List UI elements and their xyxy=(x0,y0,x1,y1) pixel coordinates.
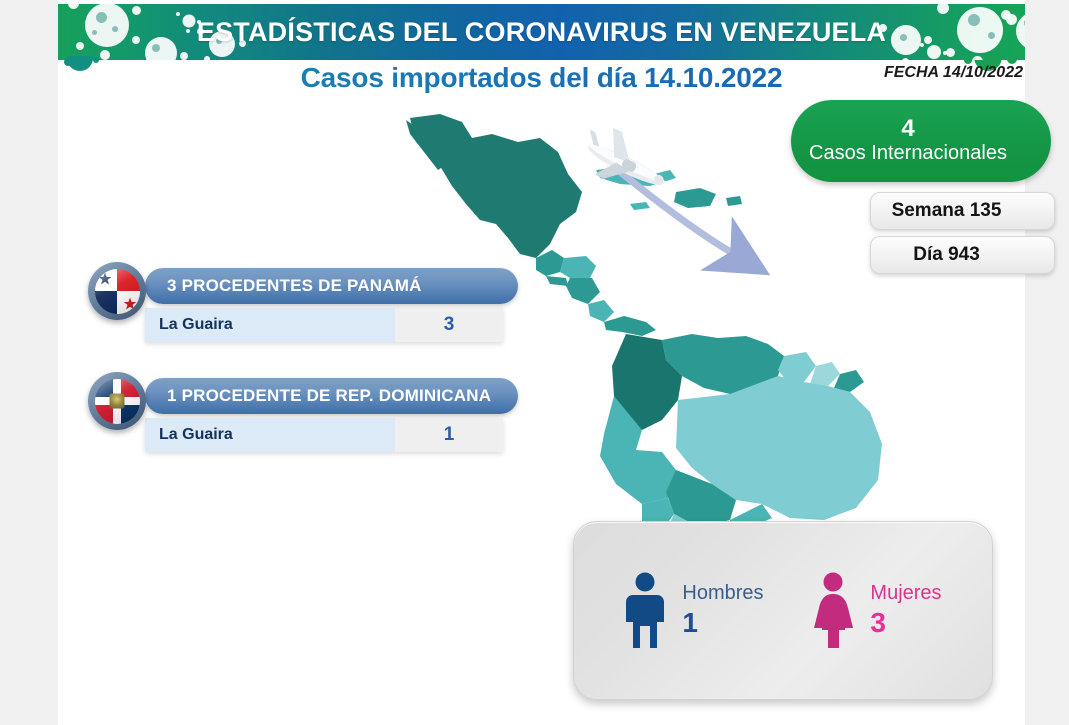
male-figure-icon xyxy=(624,572,666,650)
gender-women: Mujeres 3 xyxy=(812,572,941,650)
map-region-panama xyxy=(604,316,656,336)
gender-women-label: Mujeres xyxy=(870,582,941,605)
state-count: 3 xyxy=(395,308,503,342)
gender-men-label: Hombres xyxy=(682,582,763,605)
international-cases-label: Casos Internacionales xyxy=(809,141,1007,166)
female-figure-icon xyxy=(812,572,854,650)
fecha-label: FECHA 14/10/2022 xyxy=(884,64,1023,82)
gender-panel: Hombres 1 Mujeres 3 xyxy=(573,521,993,700)
table-row: La Guaira 1 xyxy=(145,418,503,452)
map-region-guatemala xyxy=(536,250,564,276)
day-badge: Día 943 xyxy=(870,236,1055,274)
map-region-hispaniola xyxy=(674,188,716,208)
map-region-mexico xyxy=(410,114,582,258)
international-cases-value: 4 xyxy=(901,116,914,141)
panama-flag-icon xyxy=(88,262,146,320)
subtitle: Casos importados del día 14.10.2022 xyxy=(58,62,1025,94)
map-region-jamaica xyxy=(630,202,650,210)
map-region-nicaragua xyxy=(566,278,600,304)
map-region-costarica xyxy=(588,300,614,322)
gender-men: Hombres 1 xyxy=(624,572,763,650)
dominican-republic-flag-icon xyxy=(88,372,146,430)
gender-men-value: 1 xyxy=(682,605,698,640)
infographic-root: ESTADÍSTICAS DEL CORONAVIRUS EN VENEZUEL… xyxy=(0,0,1069,725)
table-row: La Guaira 3 xyxy=(145,308,503,342)
origin-heading: 3 PROCEDENTES DE PANAMÁ xyxy=(145,268,518,304)
gender-women-value: 3 xyxy=(870,605,886,640)
map-region-puertorico xyxy=(726,196,742,206)
map-region-honduras xyxy=(560,256,596,278)
header-banner: ESTADÍSTICAS DEL CORONAVIRUS EN VENEZUEL… xyxy=(58,4,1025,60)
map-region-peru xyxy=(600,434,676,504)
state-name: La Guaira xyxy=(145,308,395,342)
airplane-icon xyxy=(573,119,676,203)
state-name: La Guaira xyxy=(145,418,395,452)
page-title: ESTADÍSTICAS DEL CORONAVIRUS EN VENEZUEL… xyxy=(58,4,1025,60)
week-badge: Semana 135 xyxy=(870,192,1055,230)
map-region-elsalvador xyxy=(546,276,568,286)
flight-arrow-icon xyxy=(618,170,734,254)
international-cases-card: 4 Casos Internacionales xyxy=(791,100,1051,182)
origin-heading: 1 PROCEDENTE DE REP. DOMINICANA xyxy=(145,378,518,414)
state-count: 1 xyxy=(395,418,503,452)
